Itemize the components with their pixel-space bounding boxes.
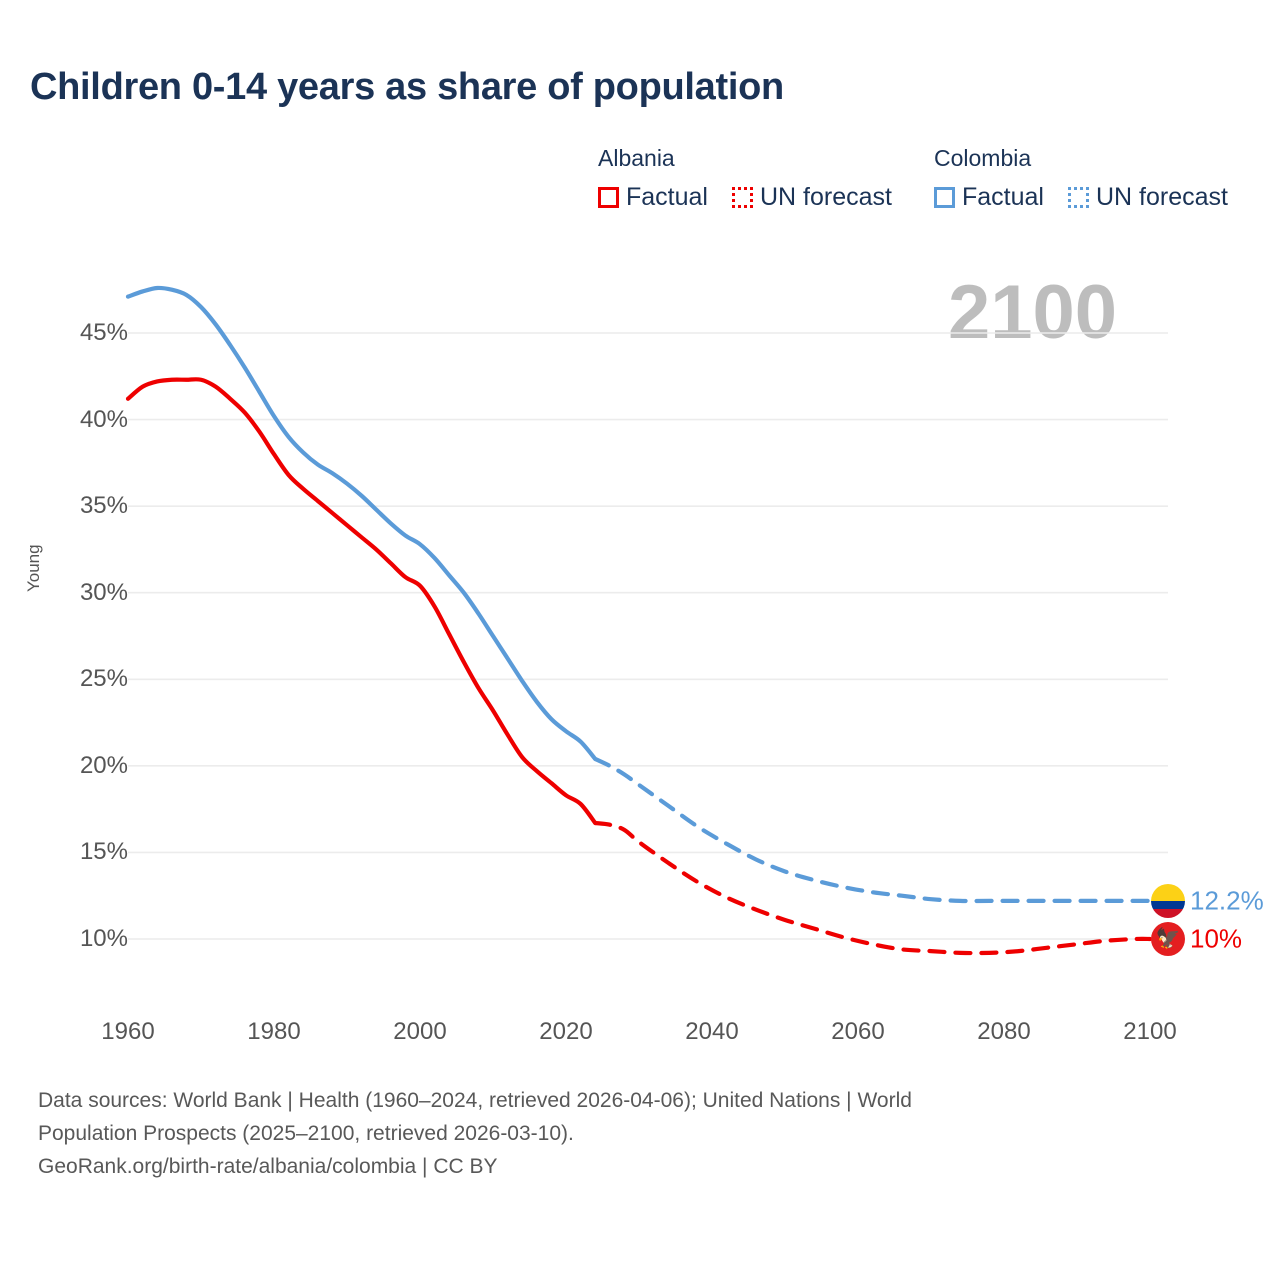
y-tick-label: 20% bbox=[68, 752, 128, 780]
series-line-factual-albania bbox=[128, 379, 595, 823]
x-tick-label: 2100 bbox=[1123, 1018, 1176, 1046]
x-tick-label: 2020 bbox=[539, 1018, 592, 1046]
flag-albania-icon: 🦅 bbox=[1151, 922, 1185, 956]
y-tick-label: 35% bbox=[68, 492, 128, 520]
series-line-forecast-albania bbox=[595, 823, 1150, 953]
y-axis-ticks: 10%15%20%25%30%35%40%45% bbox=[68, 0, 128, 1060]
footer-line-2: Population Prospects (2025–2100, retriev… bbox=[38, 1117, 1238, 1150]
footer-line-1: Data sources: World Bank | Health (1960–… bbox=[38, 1084, 1238, 1117]
y-tick-label: 25% bbox=[68, 665, 128, 693]
y-tick-label: 10% bbox=[68, 925, 128, 953]
x-tick-label: 2040 bbox=[685, 1018, 738, 1046]
end-label-colombia: 12.2% bbox=[1190, 885, 1264, 916]
line-chart-plot bbox=[0, 0, 1280, 1060]
flag-colombia-icon bbox=[1151, 884, 1185, 918]
footer-sources: Data sources: World Bank | Health (1960–… bbox=[38, 1084, 1238, 1183]
x-tick-label: 2080 bbox=[977, 1018, 1030, 1046]
y-tick-label: 40% bbox=[68, 406, 128, 434]
y-tick-label: 15% bbox=[68, 838, 128, 866]
series-line-factual-colombia bbox=[128, 288, 595, 759]
x-tick-label: 2000 bbox=[393, 1018, 446, 1046]
chart-area: 2100 Young 10%15%20%25%30%35%40%45% 1960… bbox=[0, 0, 1280, 1060]
x-tick-label: 1960 bbox=[101, 1018, 154, 1046]
end-label-albania: 10% bbox=[1190, 924, 1242, 955]
footer-line-3: GeoRank.org/birth-rate/albania/colombia … bbox=[38, 1150, 1238, 1183]
x-tick-label: 2060 bbox=[831, 1018, 884, 1046]
x-tick-label: 1980 bbox=[247, 1018, 300, 1046]
y-tick-label: 45% bbox=[68, 319, 128, 347]
y-tick-label: 30% bbox=[68, 579, 128, 607]
series-line-forecast-colombia bbox=[595, 759, 1150, 901]
x-axis-ticks: 19601980200020202040206020802100 bbox=[0, 1018, 1280, 1058]
